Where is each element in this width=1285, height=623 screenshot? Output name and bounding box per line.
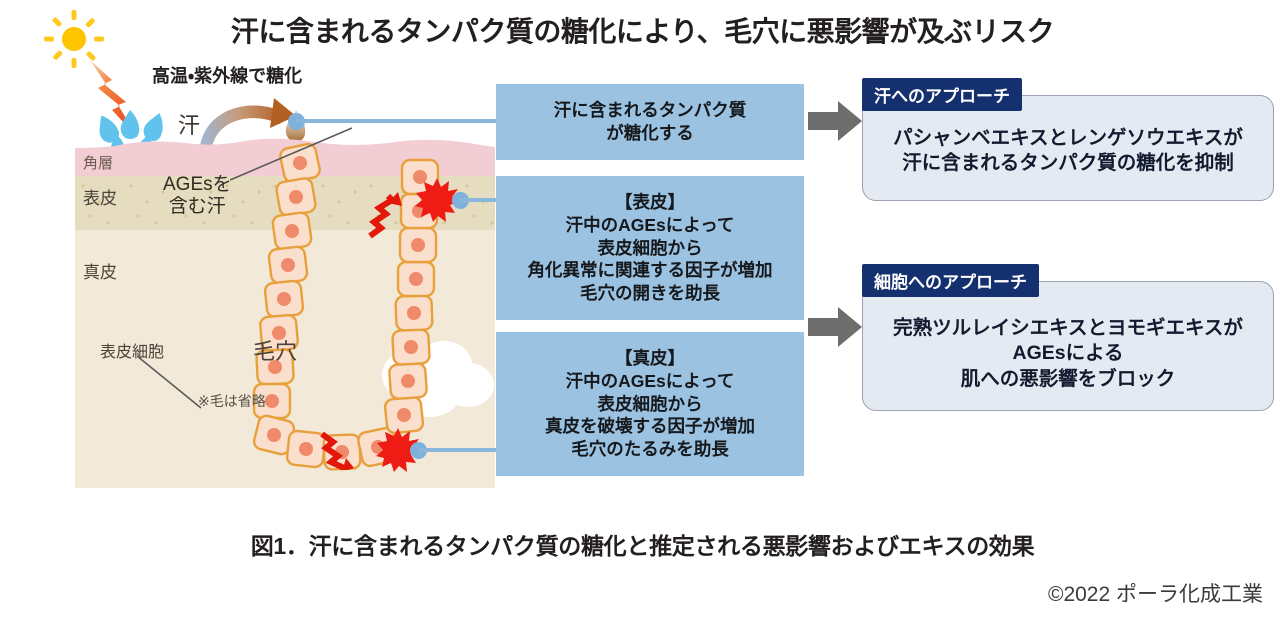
connector-line-3: [418, 448, 500, 452]
approach-panel-1-line-2: 汗に含まれるタンパク質の糖化を抑制: [863, 151, 1273, 176]
effect-box-dermis: 【真皮】 汗中のAGEsによって 表皮細胞から 真皮を破壊する因子が増加 毛穴の…: [496, 332, 804, 476]
ages-leader-line: [230, 126, 360, 186]
effect-box-1-line-2: が糖化する: [554, 122, 747, 145]
figure-caption: 図1．汗に含まれるタンパク質の糖化と推定される悪影響およびエキスの効果: [0, 527, 1285, 561]
approach-panel-sweat-body: パシャンベエキスとレンゲソウエキスが 汗に含まれるタンパク質の糖化を抑制: [863, 126, 1273, 177]
approach-panel-cell-header: 細胞へのアプローチ: [862, 264, 1039, 297]
label-stratum-corneum: 角層: [83, 152, 113, 173]
gray-arrow-icon-1: [808, 99, 862, 143]
gray-arrow-icon-2: [808, 305, 862, 349]
label-pore: 毛穴: [253, 334, 297, 366]
effect-box-3-line-5: 毛穴のたるみを助長: [545, 438, 755, 461]
effect-box-glycation: 汗に含まれるタンパク質 が糖化する: [496, 84, 804, 160]
effect-box-3-line-4: 真皮を破壊する因子が増加: [545, 415, 755, 438]
effect-box-2-line-2: 汗中のAGEsによって: [528, 214, 773, 237]
connector-line-1: [296, 119, 498, 123]
effect-box-3-line-3: 表皮細胞から: [545, 393, 755, 416]
label-epidermal-cell: 表皮細胞: [100, 338, 164, 362]
label-ages-sweat-line2: 含む汗: [163, 196, 232, 218]
label-dermis: 真皮: [83, 258, 117, 283]
approach-panel-sweat-header: 汗へのアプローチ: [862, 78, 1022, 111]
label-ages-sweat: AGEsを 含む汗: [163, 174, 232, 218]
approach-panel-cell: 細胞へのアプローチ 完熟ツルレイシエキスとヨモギエキスが AGEsによる 肌への…: [862, 281, 1274, 411]
approach-panel-1-line-1: パシャンベエキスとレンゲソウエキスが: [863, 126, 1273, 151]
approach-panel-sweat: 汗へのアプローチ パシャンベエキスとレンゲソウエキスが 汗に含まれるタンパク質の…: [862, 95, 1274, 201]
effect-box-2-line-4: 角化異常に関連する因子が増加: [528, 259, 773, 282]
heat-uv-label: 高温・紫外線で糖化: [152, 62, 302, 88]
figure-canvas: 汗に含まれるタンパク質の糖化により、毛穴に悪影響が及ぶリスク: [0, 0, 1285, 623]
effect-box-3-line-2: 汗中のAGEsによって: [545, 370, 755, 393]
effect-box-epidermis: 【表皮】 汗中のAGEsによって 表皮細胞から 角化異常に関連する因子が増加 毛…: [496, 176, 804, 320]
effect-box-2-line-3: 表皮細胞から: [528, 237, 773, 260]
effect-box-2-line-1: 【表皮】: [528, 191, 773, 214]
label-epidermis: 表皮: [83, 184, 117, 209]
effect-box-3-line-1: 【真皮】: [545, 347, 755, 370]
connector-line-2: [460, 198, 500, 202]
label-ages-sweat-line1: AGEsを: [163, 174, 232, 196]
label-hair-omitted: ※毛は省略: [198, 391, 266, 411]
page-title: 汗に含まれるタンパク質の糖化により、毛穴に悪影響が及ぶリスク: [0, 10, 1285, 50]
effect-box-2-line-5: 毛穴の開きを助長: [528, 282, 773, 305]
approach-panel-2-line-2: AGEsによる: [863, 341, 1273, 366]
effect-box-1-line-1: 汗に含まれるタンパク質: [554, 99, 747, 122]
approach-panel-2-line-3: 肌への悪影響をブロック: [863, 367, 1273, 392]
approach-panel-2-line-1: 完熟ツルレイシエキスとヨモギエキスが: [863, 316, 1273, 341]
approach-panel-cell-body: 完熟ツルレイシエキスとヨモギエキスが AGEsによる 肌への悪影響をブロック: [863, 316, 1273, 392]
copyright-notice: ©2022 ポーラ化成工業: [1048, 578, 1263, 608]
